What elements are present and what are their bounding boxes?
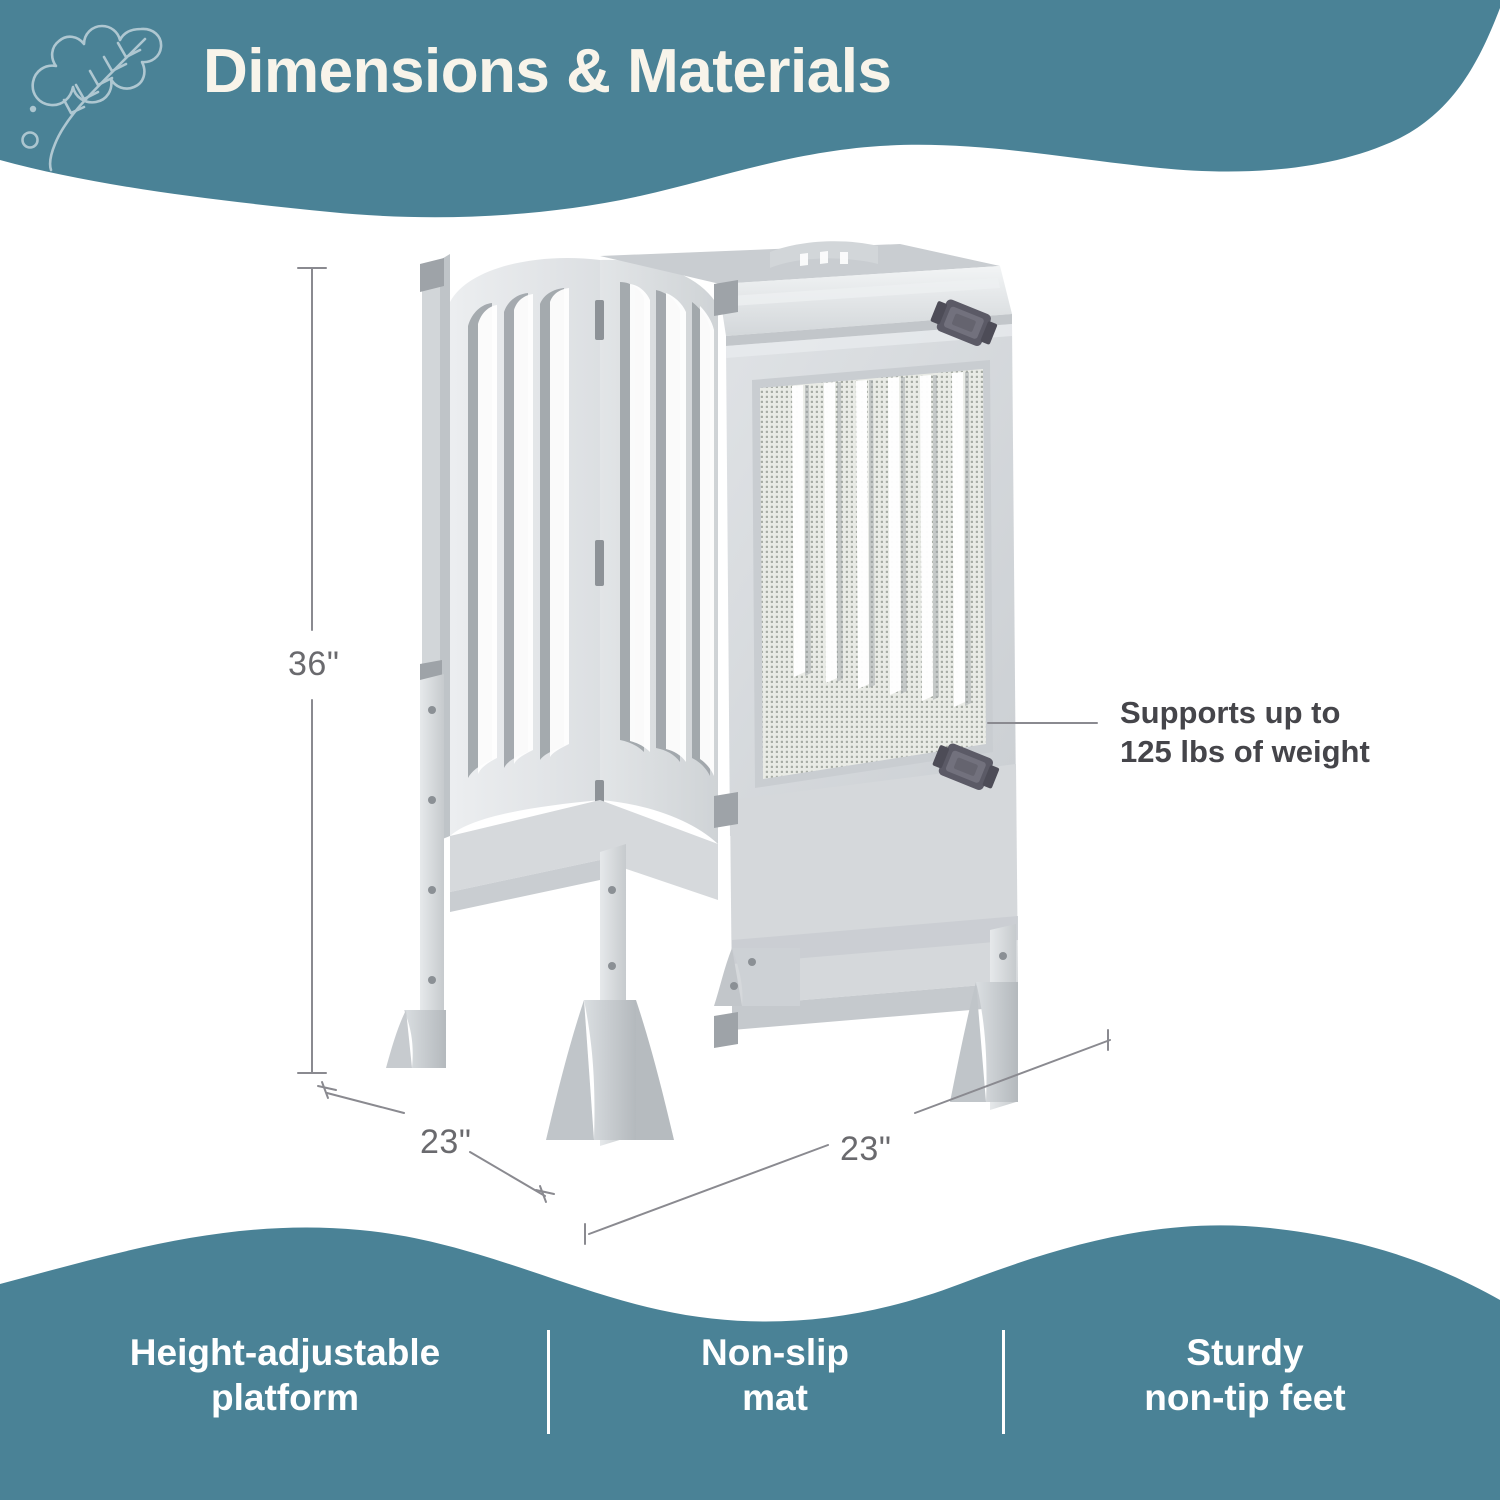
header-band (0, 0, 1500, 230)
footer-divider (1002, 1330, 1005, 1434)
infographic-page: Dimensions & Materials (0, 0, 1500, 1500)
product-illustration (300, 240, 1060, 1190)
dot-small-icon (30, 106, 36, 112)
footer-divider (547, 1330, 550, 1434)
height-dimension-label: 36" (288, 645, 339, 684)
page-title: Dimensions & Materials (203, 36, 891, 107)
ring-small-icon (23, 133, 38, 148)
feature-sturdy-non-tip-feet: Sturdy non-tip feet (1030, 1330, 1460, 1420)
feature-height-adjustable-platform: Height-adjustable platform (60, 1330, 510, 1420)
header-wave-shape (0, 0, 1500, 217)
side-slatted-panel (422, 254, 718, 912)
weight-capacity-callout: Supports up to 125 lbs of weight (1120, 694, 1370, 772)
feather-icon (14, 12, 184, 172)
width-dimension-label: 23" (840, 1130, 891, 1169)
feature-non-slip-mat: Non-slip mat (580, 1330, 970, 1420)
depth-dimension-label: 23" (420, 1123, 471, 1162)
